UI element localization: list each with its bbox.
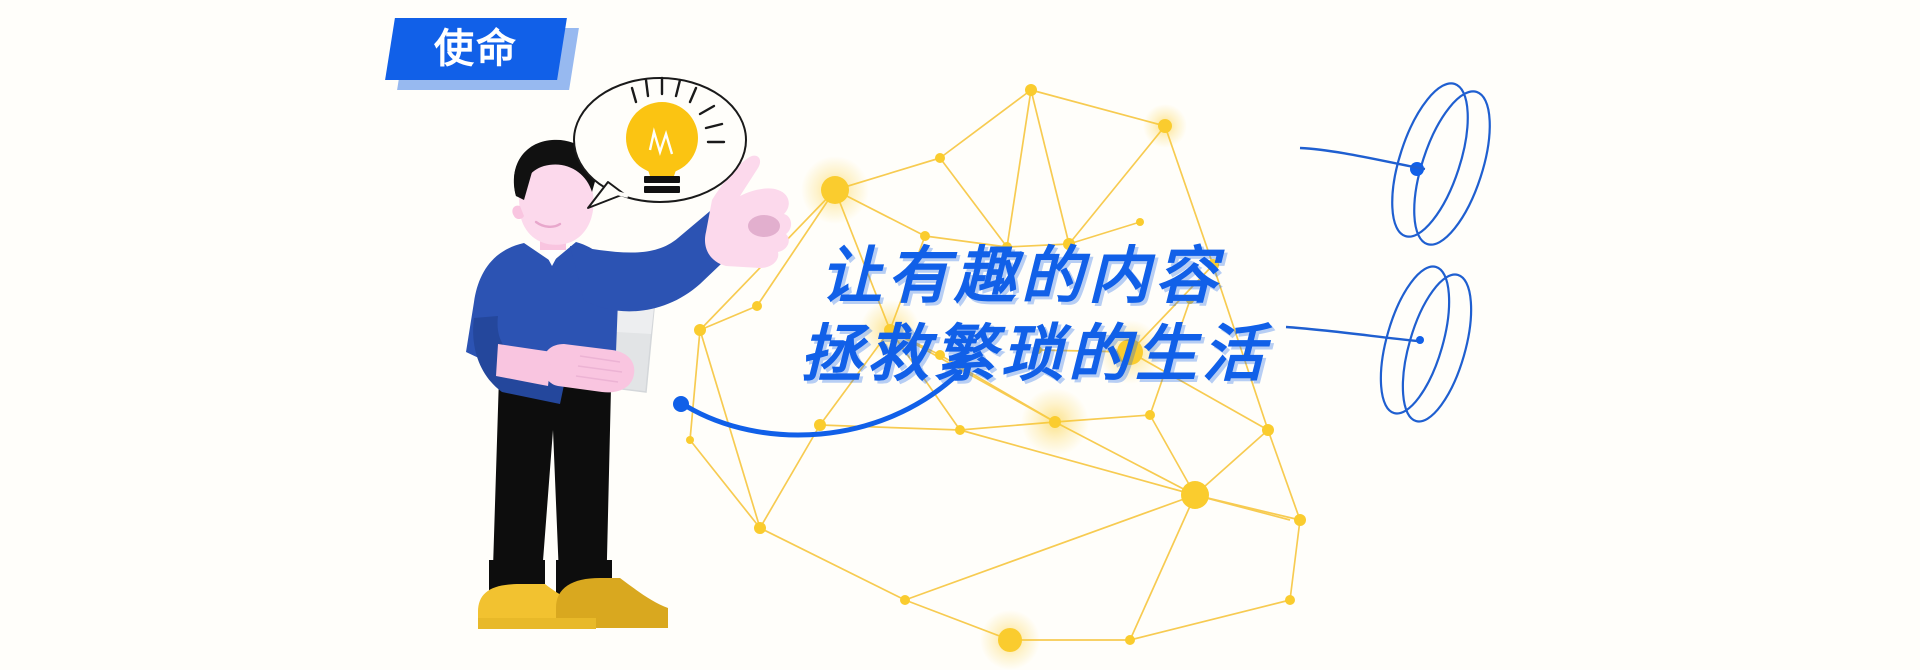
- headline-line-2: 拯救繁琐的生活: [800, 316, 1460, 394]
- badge-face: 使命: [385, 18, 567, 80]
- mission-badge[interactable]: 使命: [390, 10, 580, 100]
- headline-block: 让有趣的内容 拯救繁琐的生活: [820, 238, 1460, 394]
- headline-line-1: 让有趣的内容: [820, 238, 1460, 316]
- badge-label: 使命: [434, 29, 518, 69]
- mission-banner: 使命 让有趣的内容 拯救繁琐的生活: [0, 0, 1920, 670]
